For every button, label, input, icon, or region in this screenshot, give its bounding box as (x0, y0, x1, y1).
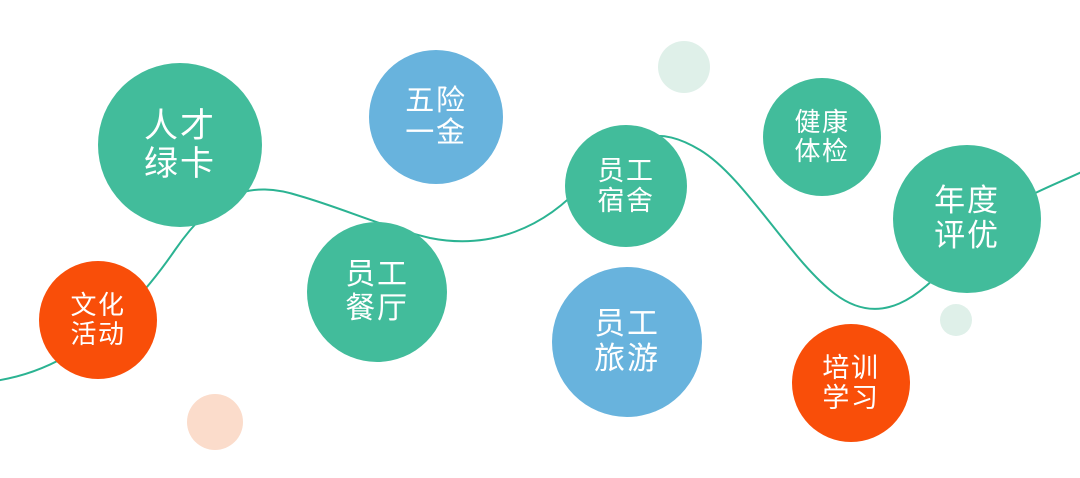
infographic-canvas: 人才 绿卡 文化 活动 五险 一金 员工 餐厅 员工 宿舍 员工 旅游 健康 体… (0, 0, 1080, 478)
bubble-label-line-1: 培训 (822, 353, 879, 383)
bubble-training-study[interactable]: 培训 学习 (792, 324, 910, 442)
bubble-label-line-1: 年度 (934, 184, 1000, 219)
decor-dot-peach-bottom-left (187, 394, 243, 450)
bubble-talent-green-card[interactable]: 人才 绿卡 (98, 63, 262, 227)
bubble-staff-canteen[interactable]: 员工 餐厅 (307, 222, 447, 362)
bubble-label-line-2: 活动 (70, 320, 125, 349)
bubble-staff-travel[interactable]: 员工 旅游 (552, 267, 702, 417)
bubble-annual-excellence[interactable]: 年度 评优 (893, 145, 1041, 293)
bubble-label-line-1: 人才 (144, 107, 216, 145)
bubble-label-line-1: 健康 (794, 108, 849, 137)
bubble-label-line-1: 员工 (597, 156, 654, 186)
bubble-staff-dormitory[interactable]: 员工 宿舍 (565, 125, 687, 247)
bubble-label-line-1: 文化 (70, 291, 125, 320)
decor-dot-mint-top (658, 41, 710, 93)
bubble-label-line-1: 员工 (345, 258, 409, 292)
bubble-label-line-2: 一金 (405, 117, 466, 149)
bubble-label-line-2: 绿卡 (144, 145, 216, 183)
bubble-label-line-2: 旅游 (594, 342, 660, 377)
bubble-culture-activity[interactable]: 文化 活动 (39, 261, 157, 379)
bubble-label-line-1: 员工 (594, 307, 660, 342)
decor-dot-mint-right (940, 304, 972, 336)
bubble-label-line-2: 评优 (934, 219, 1000, 254)
bubble-five-insurances-one-fund[interactable]: 五险 一金 (369, 50, 503, 184)
bubble-health-checkup[interactable]: 健康 体检 (763, 78, 881, 196)
bubble-label-line-2: 餐厅 (345, 292, 409, 326)
bubble-label-line-2: 学习 (822, 383, 879, 413)
bubble-label-line-2: 宿舍 (597, 186, 654, 216)
bubble-label-line-1: 五险 (405, 85, 466, 117)
bubble-label-line-2: 体检 (794, 137, 849, 166)
